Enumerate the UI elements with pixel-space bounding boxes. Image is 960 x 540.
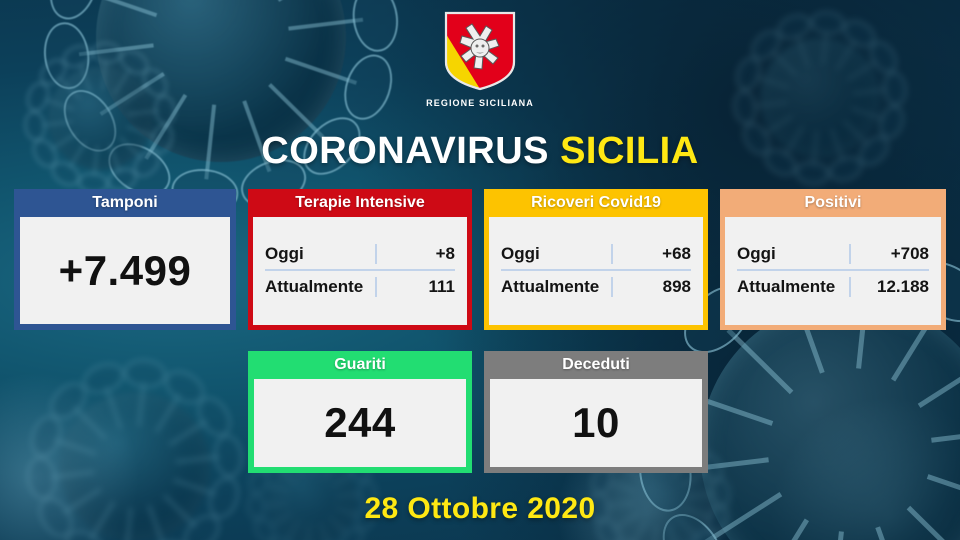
stat-value-guariti: 244 — [254, 399, 466, 447]
card-title-terapie-intensive: Terapie Intensive — [248, 189, 472, 217]
stat-card-terapie-intensive: Terapie Intensive Oggi +8 Attualmente 11… — [248, 189, 472, 330]
card-body-guariti: 244 — [254, 379, 466, 467]
stat-row-current: Attualmente 898 — [501, 271, 691, 303]
card-body-positivi: Oggi +708 Attualmente 12.188 — [725, 217, 941, 325]
row-label-current: Attualmente — [737, 277, 851, 297]
row-value-current: 12.188 — [851, 277, 929, 297]
card-title-deceduti: Deceduti — [484, 351, 708, 379]
row-value-today: +708 — [851, 244, 929, 264]
card-title-ricoveri: Ricoveri Covid19 — [484, 189, 708, 217]
stat-rows-terapie-intensive: Oggi +8 Attualmente 111 — [253, 239, 467, 303]
card-title-tamponi: Tamponi — [14, 189, 236, 217]
row-value-today: +68 — [613, 244, 691, 264]
stat-value-deceduti: 10 — [490, 399, 702, 447]
stat-row-today: Oggi +708 — [737, 239, 929, 271]
page-title: CORONAVIRUS SICILIA — [0, 130, 960, 173]
stat-row-today: Oggi +68 — [501, 239, 691, 271]
card-body-terapie-intensive: Oggi +8 Attualmente 111 — [253, 217, 467, 325]
stat-row-today: Oggi +8 — [265, 239, 455, 271]
stat-card-guariti: Guariti 244 — [248, 351, 472, 473]
report-date: 28 Ottobre 2020 — [0, 492, 960, 526]
row-label-current: Attualmente — [501, 277, 613, 297]
card-title-positivi: Positivi — [720, 189, 946, 217]
stat-rows-ricoveri: Oggi +68 Attualmente 898 — [489, 239, 703, 303]
title-highlight-text: SICILIA — [560, 130, 699, 172]
stat-row-current: Attualmente 111 — [265, 271, 455, 303]
row-value-current: 898 — [613, 277, 691, 297]
stat-value-tamponi: +7.499 — [20, 247, 230, 295]
infographic-canvas: REGIONE SICILIANA CORONAVIRUS SICILIA Ta… — [0, 0, 960, 540]
title-main-text: CORONAVIRUS — [261, 130, 549, 172]
region-emblem-block: REGIONE SICILIANA — [0, 10, 960, 108]
card-body-tamponi: +7.499 — [20, 217, 230, 324]
card-body-ricoveri: Oggi +68 Attualmente 898 — [489, 217, 703, 325]
stat-rows-positivi: Oggi +708 Attualmente 12.188 — [725, 239, 941, 303]
row-label-today: Oggi — [737, 244, 851, 264]
row-value-today: +8 — [377, 244, 455, 264]
stat-row-current: Attualmente 12.188 — [737, 271, 929, 303]
region-label: REGIONE SICILIANA — [426, 98, 534, 108]
trinacria-shield-icon — [442, 10, 518, 92]
row-label-current: Attualmente — [265, 277, 377, 297]
stat-card-deceduti: Deceduti 10 — [484, 351, 708, 473]
stat-card-ricoveri: Ricoveri Covid19 Oggi +68 Attualmente 89… — [484, 189, 708, 330]
card-body-deceduti: 10 — [490, 379, 702, 467]
card-title-guariti: Guariti — [248, 351, 472, 379]
stat-card-positivi: Positivi Oggi +708 Attualmente 12.188 — [720, 189, 946, 330]
row-value-current: 111 — [377, 277, 455, 297]
row-label-today: Oggi — [501, 244, 613, 264]
row-label-today: Oggi — [265, 244, 377, 264]
stat-card-tamponi: Tamponi +7.499 — [14, 189, 236, 330]
